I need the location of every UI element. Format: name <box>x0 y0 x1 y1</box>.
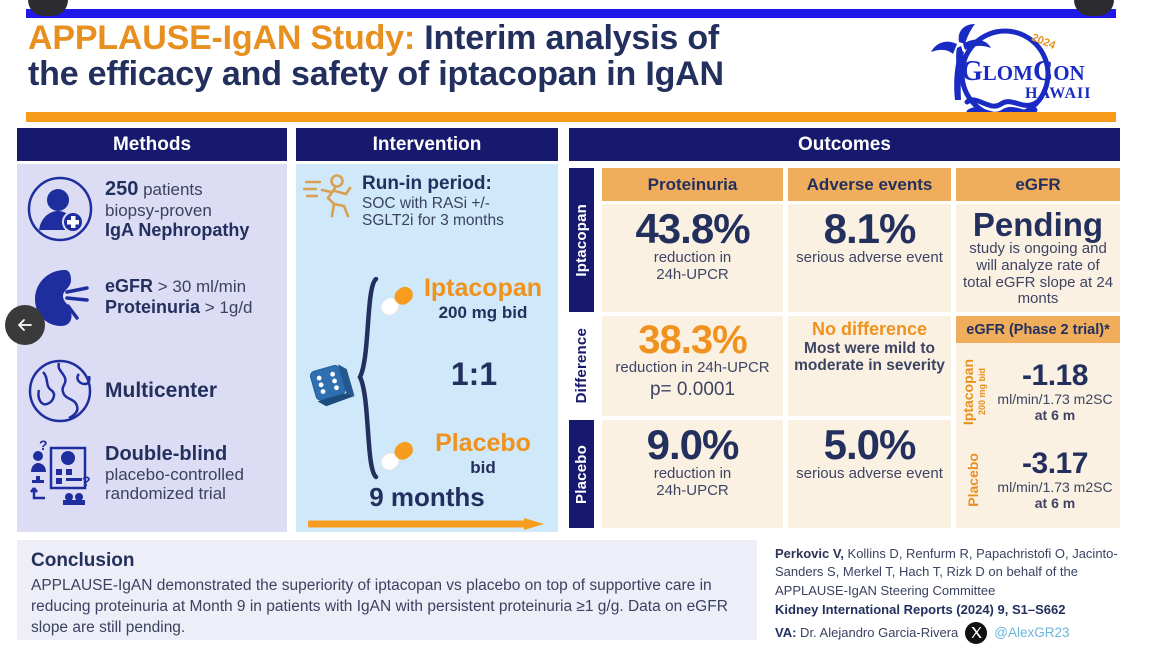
egfr-phase2-label-iptacopan: Iptacopan 200 mg bid <box>956 359 990 425</box>
conclusion-text: APPLAUSE-IgAN demonstrated the superiori… <box>31 576 743 639</box>
title-line-1-rest: Interim analysis of <box>415 19 719 57</box>
title-line-2: the efficacy and safety of iptacopan in … <box>28 56 888 92</box>
capsule-icon <box>374 433 420 479</box>
egfr-phase2-placebo-unit: ml/min/1.73 m2SC <box>990 479 1120 495</box>
method-text-design: Double-blind placebo-controlled randomiz… <box>105 443 244 503</box>
egfr-phase2-row-placebo: Placebo -3.17 ml/min/1.73 m2SC at 6 m <box>956 438 1120 522</box>
outcomes-row-label-placebo: Placebo <box>569 420 594 528</box>
design-label: Double-blind <box>105 443 244 465</box>
difference-adverse-title: No difference <box>812 320 927 340</box>
randomization-ratio: 1:1 <box>414 356 534 393</box>
citation-authors: Perkovic V, Kollins D, Renfurm R, Papach… <box>775 545 1135 600</box>
method-item-patients: 250 patients biopsy-proven IgA Nephropat… <box>23 172 285 246</box>
globe-icon <box>23 354 97 428</box>
patients-line2: biopsy-proven <box>105 201 249 220</box>
outcomes-row-label-difference: Difference <box>569 314 594 418</box>
conclusion-panel: Conclusion APPLAUSE-IgAN demonstrated th… <box>17 540 757 640</box>
section-header-methods: Methods <box>17 128 287 161</box>
cell-difference-adverse: No difference Most were mild to moderate… <box>788 316 951 416</box>
visual-abstract-credit: VA: Dr. Alejandro Garcia-Rivera <box>775 624 958 642</box>
egfr-phase2-panel: eGFR (Phase 2 trial)* Iptacopan 200 mg b… <box>956 316 1120 528</box>
egfr-phase2-values-iptacopan: -1.18 ml/min/1.73 m2SC at 6 m <box>990 361 1120 423</box>
runner-icon <box>302 172 358 229</box>
patients-label: patients <box>138 180 202 199</box>
section-header-intervention: Intervention <box>296 128 558 161</box>
egfr-phase2-row-iptacopan: Iptacopan 200 mg bid -1.18 ml/min/1.73 m… <box>956 348 1120 436</box>
title-line-1: APPLAUSE-IgAN Study: Interim analysis of <box>28 20 888 56</box>
egfr-phase2-placebo-value: -3.17 <box>990 449 1120 479</box>
cell-difference-proteinuria: 38.3% reduction in 24h-UPCR p= 0.0001 <box>602 316 783 416</box>
arm-iptacopan: Iptacopan 200 mg bid <box>374 274 554 323</box>
placebo-proteinuria-sub2: 24h-UPCR <box>656 483 729 500</box>
citation-journal: Kidney International Reports (2024) 9, S… <box>775 601 1135 619</box>
multicenter-label: Multicenter <box>105 379 217 403</box>
cell-placebo-proteinuria: 9.0% reduction in 24h-UPCR <box>602 420 783 528</box>
iptacopan-adverse-value: 8.1% <box>824 208 916 250</box>
egfr-phase2-label-placebo: Placebo <box>956 453 990 507</box>
egfr-phase2-iptacopan-unit: ml/min/1.73 m2SC <box>990 391 1120 407</box>
difference-adverse-sub1: Most were mild to <box>804 340 935 357</box>
outcomes-col-header-egfr: eGFR <box>956 168 1120 201</box>
placebo-proteinuria-value: 9.0% <box>647 424 739 466</box>
study-duration-label: 9 months <box>296 482 558 513</box>
iptacopan-adverse-sub: serious adverse event <box>796 250 943 267</box>
header-divider-rule <box>26 112 1116 122</box>
method-item-eligibility: eGFR > 30 ml/min Proteinuria > 1g/d <box>23 260 285 334</box>
outcomes-col-header-adverse-events: Adverse events <box>788 168 951 201</box>
cell-iptacopan-proteinuria: 43.8% reduction in 24h-UPCR <box>602 204 783 312</box>
x-twitter-icon[interactable] <box>965 622 987 644</box>
citation-first-author: Perkovic V, <box>775 546 844 561</box>
method-text-multicenter: Multicenter <box>105 379 217 403</box>
page-title: APPLAUSE-IgAN Study: Interim analysis of… <box>28 20 888 92</box>
egfr-phase2-iptacopan-value: -1.18 <box>990 361 1120 391</box>
outcomes-col-header-proteinuria: Proteinuria <box>602 168 783 201</box>
run-in-title: Run-in period: <box>362 174 504 195</box>
egfr-phase2-placebo-time: at 6 m <box>990 495 1120 511</box>
methods-panel: 250 patients biopsy-proven IgA Nephropat… <box>17 164 287 532</box>
design-line3: randomized trial <box>105 484 244 503</box>
glomcon-hawaii-logo: 2024 GLOMCON HAWAII <box>905 22 1105 124</box>
iptacopan-proteinuria-value: 43.8% <box>635 208 749 250</box>
egfr-phase2-values-placebo: -3.17 ml/min/1.73 m2SC at 6 m <box>990 449 1120 511</box>
difference-p-value: p= 0.0001 <box>650 379 735 400</box>
logo-sublabel: HAWAII <box>1025 85 1091 102</box>
proteinuria-criterion-label: Proteinuria <box>105 297 200 317</box>
intervention-panel: Run-in period: SOC with RASi +/- SGLT2i … <box>296 164 558 532</box>
capsule-icon <box>374 278 420 324</box>
x-glyph <box>970 626 983 639</box>
iptacopan-proteinuria-sub2: 24h-UPCR <box>656 267 729 284</box>
va-author: Dr. Alejandro Garcia-Rivera <box>796 625 958 640</box>
patients-line3: IgA Nephropathy <box>105 220 249 240</box>
patient-icon <box>23 172 97 246</box>
conclusion-title: Conclusion <box>31 550 743 572</box>
section-header-outcomes: Outcomes <box>569 128 1120 161</box>
egfr-criterion-label: eGFR <box>105 276 153 296</box>
method-item-design: ? ? Double-blind placebo-controlled rand… <box>23 436 285 510</box>
iptacopan-proteinuria-sub1: reduction in <box>654 250 732 267</box>
cell-placebo-adverse: 5.0% serious adverse event <box>788 420 951 528</box>
back-button[interactable] <box>5 305 45 345</box>
design-line2: placebo-controlled <box>105 465 244 484</box>
svg-text:?: ? <box>82 473 91 489</box>
method-text-patients: 250 patients biopsy-proven IgA Nephropat… <box>105 178 249 240</box>
placebo-adverse-sub: serious adverse event <box>796 466 943 483</box>
run-in-block: Run-in period: SOC with RASi +/- SGLT2i … <box>302 172 554 229</box>
clipboard-icon: ? ? <box>23 436 97 510</box>
cell-iptacopan-adverse: 8.1% serious adverse event <box>788 204 951 312</box>
egfr-criterion-value: > 30 ml/min <box>153 277 246 296</box>
run-in-line2: SGLT2i for 3 months <box>362 212 504 229</box>
proteinuria-criterion-value: > 1g/d <box>200 298 252 317</box>
difference-proteinuria-sub1: reduction in 24h-UPCR <box>615 360 769 377</box>
method-item-multicenter: Multicenter <box>23 354 285 428</box>
placebo-proteinuria-sub1: reduction in <box>654 466 732 483</box>
poster-header: APPLAUSE-IgAN Study: Interim analysis of… <box>0 20 1152 105</box>
outcomes-panel: Iptacopan Difference Placebo Proteinuria… <box>569 164 1120 532</box>
egfr-phase2-header: eGFR (Phase 2 trial)* <box>956 316 1120 343</box>
timeline-arrow-icon <box>308 517 548 531</box>
run-in-text: Run-in period: SOC with RASi +/- SGLT2i … <box>362 172 504 229</box>
logo-year: 2024 <box>1030 32 1058 53</box>
visual-abstract-credit-row: VA: Dr. Alejandro Garcia-Rivera @AlexGR2… <box>775 622 1135 644</box>
arm-placebo: Placebo bid <box>374 429 554 478</box>
iptacopan-egfr-value: Pending <box>973 208 1103 241</box>
egfr-phase2-iptacopan-time: at 6 m <box>990 407 1120 423</box>
placebo-adverse-value: 5.0% <box>824 424 916 466</box>
logo-artwork: 2024 GLOMCON HAWAII <box>905 22 1105 124</box>
arrow-left-icon <box>15 315 35 335</box>
patients-count: 250 <box>105 178 138 200</box>
title-study-name: APPLAUSE-IgAN Study: <box>28 19 415 57</box>
difference-adverse-sub2: moderate in severity <box>794 357 945 374</box>
social-handle[interactable]: @AlexGR23 <box>994 623 1069 642</box>
logo-wordmark: GLOMCON <box>961 56 1085 87</box>
svg-text:?: ? <box>39 438 48 453</box>
outcomes-row-label-iptacopan: Iptacopan <box>569 168 594 312</box>
cell-iptacopan-egfr: Pending study is ongoing and will analyz… <box>956 204 1120 312</box>
run-in-line1: SOC with RASi +/- <box>362 195 504 212</box>
method-text-eligibility: eGFR > 30 ml/min Proteinuria > 1g/d <box>105 276 253 318</box>
citation-panel: Perkovic V, Kollins D, Renfurm R, Papach… <box>775 545 1135 645</box>
top-accent-bar <box>26 9 1116 18</box>
dice-icon <box>305 357 357 409</box>
va-label: VA: <box>775 625 796 640</box>
difference-proteinuria-value: 38.3% <box>638 320 746 360</box>
iptacopan-egfr-sub: study is ongoing and will analyze rate o… <box>956 241 1120 308</box>
